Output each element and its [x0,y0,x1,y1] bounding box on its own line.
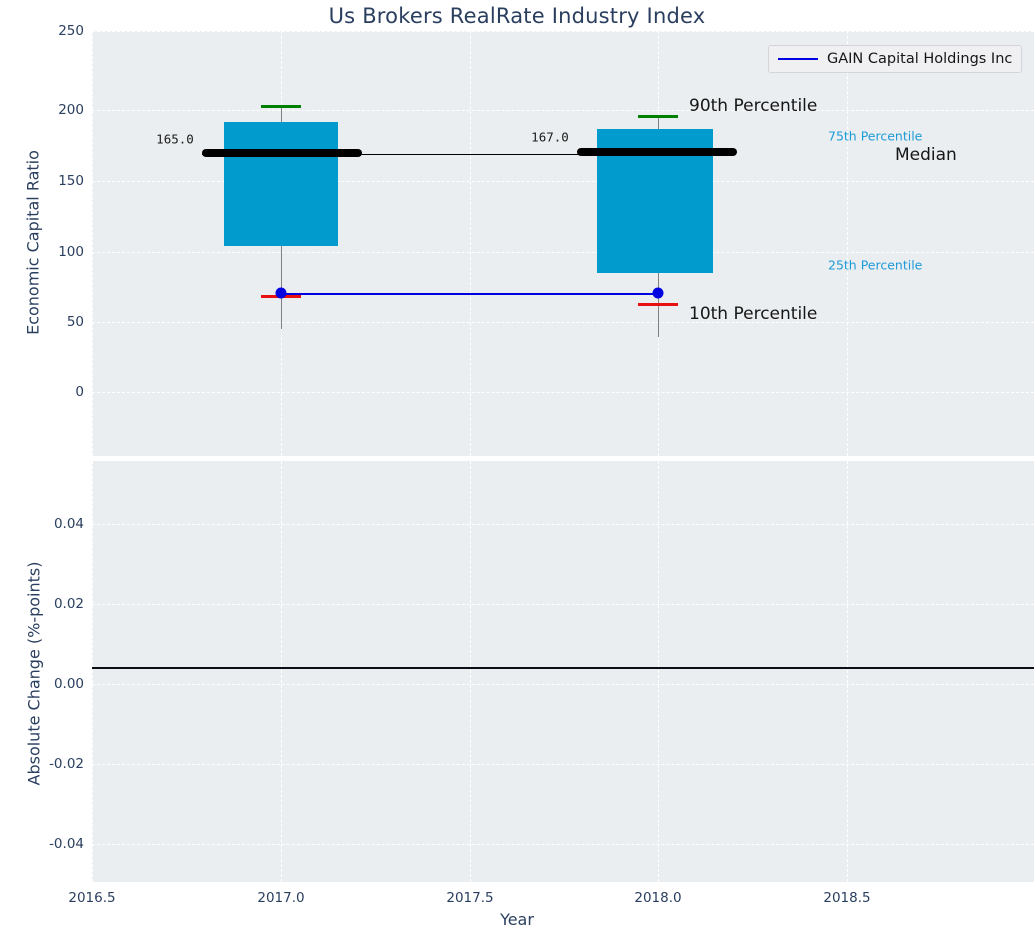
legend-label-gain: GAIN Capital Holdings Inc [827,51,1012,67]
gridline-x2-2018-0 [658,461,659,882]
annotation-25th-percentile: 25th Percentile [828,258,922,273]
gridline-y-100 [92,252,1034,253]
chart-figure: Us Brokers RealRate Industry Index [0,0,1034,942]
gridline-y-200 [92,110,1034,111]
y-tick-0: 0 [6,384,84,400]
p90-cap-2018 [638,115,678,118]
y-tick-150: 150 [6,173,84,189]
median-marker-2018 [577,148,737,156]
y2-tick-neg-0-04: -0.04 [6,836,84,852]
iqr-box-2017 [224,122,338,246]
annotation-median: Median [895,145,957,165]
y-tick-100: 100 [6,244,84,260]
gridline-x-2018-5 [847,31,848,456]
median-value-label-2018: 167.0 [531,130,569,145]
y2-tick-neg-0-02: -0.02 [6,756,84,772]
top-plot-panel: 165.0 167.0 90th Percentile 75th Percent… [92,31,1034,456]
gridline-y-0-00 [92,684,1034,685]
legend-line-icon [778,58,818,60]
x-axis-title: Year [0,910,1034,929]
y2-tick-0-02: 0.02 [6,596,84,612]
gridline-x2-2018-5 [847,461,848,882]
gridline-x-2017-5 [470,31,471,456]
x-tick-2017-0: 2017.0 [257,890,304,906]
x-tick-2016-5: 2016.5 [68,890,115,906]
x-tick-2018-5: 2018.5 [823,890,870,906]
gridline-y-0-02 [92,604,1034,605]
series-point-2017 [276,288,287,299]
gridline-x2-2017-5 [470,461,471,882]
gridline-y-neg-0-04 [92,844,1034,845]
annotation-90th-percentile: 90th Percentile [689,96,817,116]
zero-reference-line [92,667,1034,669]
annotation-10th-percentile: 10th Percentile [689,304,817,324]
x-tick-2017-5: 2017.5 [446,890,493,906]
p90-cap-2017 [261,105,301,108]
gridline-y-neg-0-02 [92,764,1034,765]
y-tick-200: 200 [6,102,84,118]
bottom-y-axis-title: Absolute Change (%-points) [25,504,44,844]
y-tick-250: 250 [6,23,84,39]
gridline-x2-2017-0 [281,461,282,882]
x-tick-2018-0: 2018.0 [634,890,681,906]
gridline-x-2016-5 [92,31,93,456]
annotation-75th-percentile: 75th Percentile [828,129,922,144]
y2-tick-0-00: 0.00 [6,676,84,692]
y-tick-50: 50 [6,314,84,330]
top-y-axis-title: Economic Capital Ratio [24,113,43,373]
series-point-2018 [653,288,664,299]
series-line-gain [281,293,658,295]
bottom-plot-panel [92,461,1034,882]
gridline-y-250 [92,31,1034,32]
p10-cap-2018 [638,303,678,306]
gridline-y-0 [92,392,1034,393]
y2-tick-0-04: 0.04 [6,516,84,532]
legend[interactable]: GAIN Capital Holdings Inc [768,45,1022,73]
median-value-label-2017: 165.0 [156,132,194,147]
gridline-x2-2016-5 [92,461,93,882]
gridline-y-0-04 [92,524,1034,525]
page-title: Us Brokers RealRate Industry Index [0,4,1034,28]
gridline-y-50 [92,322,1034,323]
median-marker-2017 [202,149,362,157]
